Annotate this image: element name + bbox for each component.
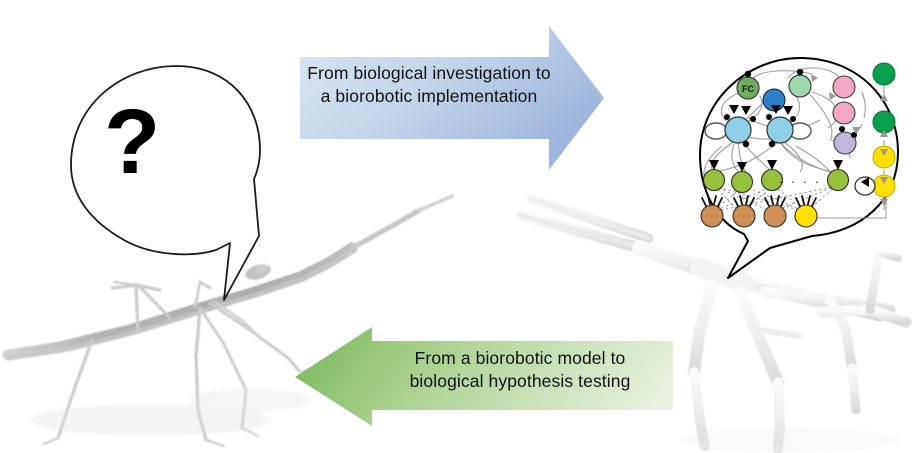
neuron-pink-2: [833, 102, 855, 124]
neuron-row-ellipsis: · · · ·: [779, 174, 821, 189]
neuron-green-1: [704, 170, 725, 191]
neuron-lightblue-left: [725, 117, 751, 143]
neural-network-diagram: FC · · · ·: [0, 0, 912, 453]
neuron-brown-3: [764, 205, 786, 227]
neuron-mint: [789, 75, 811, 97]
neuron-dark-green-1: [873, 63, 895, 85]
neuron-brown-1: [701, 205, 723, 227]
biorobotics-figure: From biological investigation to a bioro…: [0, 0, 912, 453]
neuron-pink-1: [833, 76, 855, 98]
neuron-lightblue-right: [767, 117, 793, 143]
neuron-dark-green-2: [873, 111, 895, 133]
neuron-yellow-sensor: [795, 205, 817, 227]
neuron-green-4: [828, 170, 849, 191]
neuron-brown-2: [733, 205, 755, 227]
neuron-fc-label: FC: [742, 84, 754, 94]
neuron-green-2: [732, 172, 753, 193]
